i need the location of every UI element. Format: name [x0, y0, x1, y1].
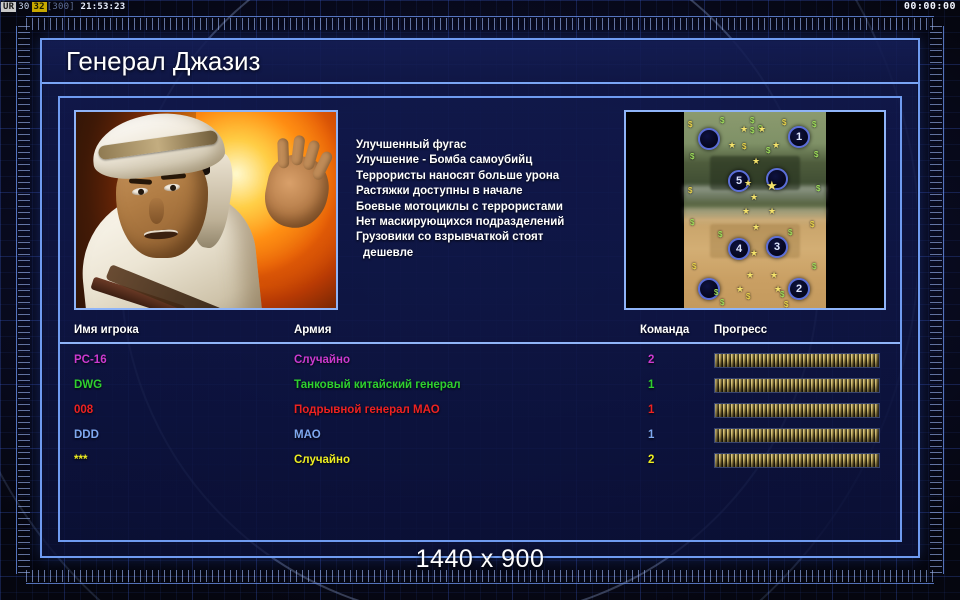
map-object-marker: ★ [768, 206, 776, 217]
game-lobby-screen: UR3032[300] 21:53:23 00:00:00 Генерал Дж… [0, 0, 960, 600]
player-team: 1 [648, 429, 654, 441]
map-object-marker: ★ [758, 124, 766, 135]
player-army: Случайно [294, 454, 350, 466]
player-team: 1 [648, 404, 654, 416]
map-resource-marker: $ [688, 120, 692, 129]
map-object-marker: ★ [728, 140, 736, 151]
map-object-marker: ★ [752, 156, 760, 167]
player-army: Танковый китайский генерал [294, 379, 461, 391]
map-object-marker: ★ [766, 178, 778, 194]
column-header-progress: Прогресс [714, 324, 767, 336]
map-object-marker: ★ [740, 124, 748, 135]
map-resource-marker: $ [714, 288, 718, 297]
player-army: Случайно [294, 354, 350, 366]
performance-readout: UR3032[300] 21:53:23 [1, 0, 125, 14]
map-resource-marker: $ [816, 184, 820, 193]
ruler-left [18, 26, 30, 574]
player-row[interactable]: DWGТанковый китайский генерал1 [60, 375, 900, 400]
map-resource-marker: $ [788, 228, 792, 237]
player-team: 2 [648, 354, 654, 366]
perf-clock: 21:53:23 [80, 2, 125, 12]
map-terrain: 15432$$$$$$$$$$$$$$$$$$$$$$$$★★★★★★★★★★★… [684, 112, 826, 308]
column-header-team: Команда [640, 324, 689, 336]
general-portrait [74, 110, 338, 310]
perf-fps: 30 [16, 2, 31, 12]
player-name: *** [74, 454, 87, 466]
player-progress-fill [715, 379, 879, 392]
frame-line-bottom [26, 583, 934, 584]
column-header-name: Имя игрока [74, 324, 139, 336]
map-object-marker: ★ [770, 270, 778, 281]
description-line: Нет маскирующихся подразделений [356, 215, 656, 230]
perf-label: UR [1, 2, 16, 12]
map-preview: 15432$$$$$$$$$$$$$$$$$$$$$$$$★★★★★★★★★★★… [624, 110, 886, 310]
map-resource-marker: $ [812, 120, 816, 129]
player-progress-fill [715, 454, 879, 467]
player-progress-fill [715, 404, 879, 417]
player-team: 2 [648, 454, 654, 466]
player-progress-bar [714, 453, 880, 468]
player-row[interactable]: ***Случайно2 [60, 450, 900, 475]
ruler-right [930, 26, 942, 574]
map-resource-marker: $ [784, 300, 788, 309]
player-name: 008 [74, 404, 93, 416]
map-start-position: 4 [728, 238, 750, 260]
column-header-army: Армия [294, 324, 331, 336]
game-timer: 00:00:00 [904, 0, 956, 14]
map-object-marker: ★ [750, 192, 758, 203]
description-line: Террористы наносят больше урона [356, 169, 656, 184]
player-army: Подрывной генерал МАО [294, 404, 440, 416]
perf-bracket: [300] [47, 2, 75, 12]
frame-line-left [16, 26, 17, 574]
lobby-window: Генерал Джазиз [40, 38, 920, 558]
player-progress-bar [714, 378, 880, 393]
map-resource-marker: $ [742, 142, 746, 151]
map-resource-marker: $ [688, 186, 692, 195]
map-resource-marker: $ [782, 118, 786, 127]
player-progress-bar [714, 403, 880, 418]
player-progress-bar [714, 428, 880, 443]
map-start-position: 2 [788, 278, 810, 300]
window-content: Улучшенный фугасУлучшение - Бомба самоуб… [58, 96, 902, 542]
resolution-caption: 1440 x 900 [0, 545, 960, 574]
map-resource-marker: $ [718, 230, 722, 239]
general-info-section: Улучшенный фугасУлучшение - Бомба самоуб… [60, 98, 900, 322]
map-object-marker: ★ [772, 140, 780, 151]
description-line: дешевле [356, 246, 656, 261]
map-resource-marker: $ [692, 262, 696, 271]
map-object-marker: ★ [736, 284, 744, 295]
description-line: Улучшение - Бомба самоубийц [356, 153, 656, 168]
map-resource-marker: $ [746, 292, 750, 301]
player-progress-bar [714, 353, 880, 368]
description-line: Боевые мотоциклы с террористами [356, 200, 656, 215]
frame-line-right [943, 26, 944, 574]
map-resource-marker: $ [810, 220, 814, 229]
map-start-position: 3 [766, 236, 788, 258]
map-resource-marker: $ [812, 262, 816, 271]
player-name: DWG [74, 379, 102, 391]
ruler-top [26, 18, 934, 30]
map-object-marker: ★ [750, 248, 758, 259]
page-title: Генерал Джазиз [66, 46, 260, 77]
map-object-marker: ★ [742, 206, 750, 217]
map-resource-marker: $ [814, 150, 818, 159]
map-resource-marker: $ [750, 116, 754, 125]
map-resource-marker: $ [750, 126, 754, 135]
player-army: МАО [294, 429, 321, 441]
map-object-marker: ★ [746, 270, 754, 281]
map-object-marker: ★ [744, 178, 752, 189]
description-line: Грузовики со взрывчаткой стоят [356, 230, 656, 245]
frame-line-top [26, 16, 934, 17]
map-resource-marker: $ [720, 298, 724, 307]
map-object-marker: ★ [774, 284, 782, 295]
player-row[interactable]: DDDМАО1 [60, 425, 900, 450]
map-resource-marker: $ [766, 146, 770, 155]
description-line: Растяжки доступны в начале [356, 184, 656, 199]
player-team: 1 [648, 379, 654, 391]
map-object-marker: ★ [752, 222, 760, 233]
player-name: DDD [74, 429, 99, 441]
map-resource-marker: $ [690, 152, 694, 161]
player-row[interactable]: PC-16Случайно2 [60, 350, 900, 375]
window-titlebar: Генерал Джазиз [42, 40, 918, 84]
player-list: Имя игрока Армия Команда Прогресс PC-16С… [60, 322, 900, 540]
map-resource-marker: $ [690, 218, 694, 227]
map-resource-marker: $ [720, 116, 724, 125]
map-start-position: 1 [788, 126, 810, 148]
top-status-bar: UR3032[300] 21:53:23 00:00:00 [0, 0, 960, 14]
map-start-position [698, 128, 720, 150]
perf-value: 32 [32, 2, 47, 12]
player-progress-fill [715, 429, 879, 442]
description-line: Улучшенный фугас [356, 138, 656, 153]
player-name: PC-16 [74, 354, 107, 366]
player-progress-fill [715, 354, 879, 367]
player-list-header: Имя игрока Армия Команда Прогресс [60, 322, 900, 344]
player-row[interactable]: 008Подрывной генерал МАО1 [60, 400, 900, 425]
general-description: Улучшенный фугасУлучшение - Бомба самоуб… [356, 138, 656, 261]
